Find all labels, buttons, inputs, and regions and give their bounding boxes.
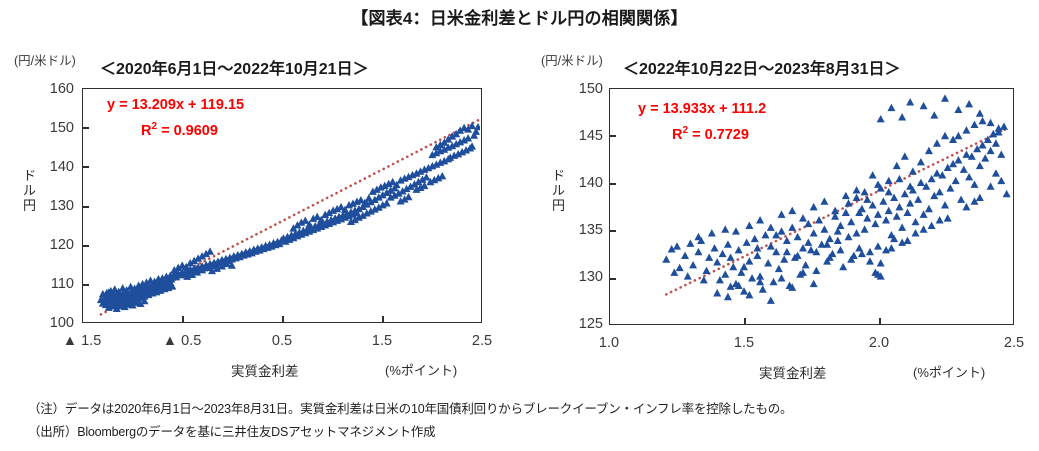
scatter-marker	[954, 132, 962, 139]
scatter-marker	[944, 214, 952, 221]
scatter-marker	[711, 244, 719, 251]
scatter-marker	[1003, 190, 1011, 197]
scatter-marker	[713, 289, 721, 296]
scatter-marker	[877, 115, 885, 122]
scatter-marker	[705, 253, 713, 260]
scatter-marker	[751, 235, 759, 242]
scatter-marker	[893, 162, 901, 169]
left-y-unit-label: (円/米ドル)	[14, 50, 76, 69]
scatter-marker	[778, 274, 786, 281]
scatter-marker	[901, 152, 909, 159]
scatter-marker	[962, 151, 970, 158]
scatter-marker	[898, 224, 906, 231]
scatter-marker	[912, 229, 920, 236]
scatter-marker	[893, 212, 901, 219]
scatter-marker	[992, 139, 1000, 146]
scatter-marker	[810, 203, 818, 210]
scatter-marker	[871, 220, 879, 227]
scatter-marker	[906, 182, 914, 189]
scatter-marker	[874, 210, 882, 217]
scatter-marker	[759, 285, 767, 292]
scatter-marker	[917, 158, 925, 165]
right-y-tick-130: 130	[561, 269, 603, 285]
scatter-marker	[933, 139, 941, 146]
scatter-marker	[970, 180, 978, 187]
scatter-marker	[909, 167, 917, 174]
scatter-marker	[767, 297, 775, 304]
scatter-marker	[941, 132, 949, 139]
left-y-tick-100: 100	[32, 315, 74, 331]
scatter-marker	[933, 169, 941, 176]
scatter-marker	[732, 227, 740, 234]
scatter-marker	[676, 264, 684, 271]
scatter-marker	[887, 244, 895, 251]
scatter-marker	[802, 261, 810, 268]
scatter-marker	[946, 184, 954, 191]
right-x-tick-1-5: 1.5	[704, 335, 784, 351]
scatter-marker	[903, 237, 911, 244]
scatter-marker	[694, 248, 702, 255]
scatter-marker	[882, 216, 890, 223]
scatter-marker	[700, 276, 708, 283]
scatter-marker	[997, 151, 1005, 158]
scatter-marker	[788, 224, 796, 231]
chart-panel-left: (円/米ドル) ＜2020年6月1日～2022年10月21日＞ ドル円 160 …	[0, 0, 520, 392]
scatter-marker	[970, 121, 978, 128]
scatter-marker	[769, 278, 777, 285]
scatter-marker	[930, 111, 938, 118]
left-x-tick-neg1-5: ▲ 1.5	[42, 333, 122, 349]
right-x-axis-title: 実質金利差	[759, 362, 827, 382]
scatter-marker	[895, 203, 903, 210]
scatter-marker	[906, 199, 914, 206]
scatter-marker	[727, 253, 735, 260]
right-y-unit-label: (円/米ドル)	[541, 50, 603, 69]
left-x-tick-1-5: 1.5	[342, 333, 422, 349]
scatter-marker	[438, 172, 446, 179]
scatter-marker	[729, 263, 737, 270]
scatter-marker	[719, 250, 727, 257]
scatter-marker	[914, 195, 922, 202]
left-y-tick-160: 160	[32, 81, 74, 97]
scatter-marker	[780, 255, 788, 262]
scatter-marker	[866, 257, 874, 264]
right-x-tick-2-0: 2.0	[839, 335, 919, 351]
scatter-marker	[885, 207, 893, 214]
scatter-marker	[869, 171, 877, 178]
scatter-marker	[845, 199, 853, 206]
left-xtick-0.5	[282, 316, 284, 323]
scatter-marker	[952, 177, 960, 184]
scatter-marker	[743, 239, 751, 246]
left-plot-canvas	[83, 89, 480, 321]
scatter-marker	[753, 252, 761, 259]
scatter-marker	[783, 237, 791, 244]
scatter-marker	[863, 195, 871, 202]
left-y-tick-140: 140	[32, 159, 74, 175]
scatter-marker	[874, 180, 882, 187]
left-y-tick-120: 120	[32, 237, 74, 253]
scatter-marker	[799, 214, 807, 221]
scatter-marker	[898, 113, 906, 120]
scatter-marker	[941, 94, 949, 101]
scatter-marker	[724, 240, 732, 247]
scatter-marker	[673, 242, 681, 249]
right-scatter-plot: y = 13.933x + 111.2 R2 = 0.7729	[609, 88, 1014, 325]
left-ytick-110	[82, 284, 89, 286]
footnote-source: （出所）Bloombergのデータを基に三井住友DSアセットマネジメント作成	[28, 421, 435, 440]
left-ytick-120	[82, 245, 89, 247]
right-ytick-145	[609, 135, 616, 137]
right-xtick-2	[879, 318, 881, 325]
figure-page: 【図表4：日米金利差とドル円の相関関係】 (円/米ドル) ＜2020年6月1日～…	[0, 0, 1039, 451]
scatter-marker	[839, 263, 847, 270]
scatter-marker	[662, 255, 670, 262]
scatter-marker	[756, 216, 764, 223]
scatter-marker	[887, 104, 895, 111]
left-x-axis-title: 実質金利差	[231, 360, 299, 380]
left-ytick-150	[82, 127, 89, 129]
scatter-marker	[962, 126, 970, 133]
right-x-tick-1-0: 1.0	[569, 335, 649, 351]
scatter-marker	[979, 117, 987, 124]
scatter-marker	[761, 231, 769, 238]
scatter-marker	[807, 246, 815, 253]
scatter-marker	[694, 233, 702, 240]
scatter-marker	[474, 123, 480, 130]
scatter-marker	[834, 237, 842, 244]
scatter-marker	[912, 218, 920, 225]
scatter-marker	[987, 147, 995, 154]
left-y-tick-130: 130	[32, 198, 74, 214]
scatter-marker	[997, 177, 1005, 184]
scatter-marker	[753, 244, 761, 251]
right-y-tick-125: 125	[561, 316, 603, 332]
scatter-marker	[724, 293, 732, 300]
scatter-marker	[721, 225, 729, 232]
scatter-marker	[987, 119, 995, 126]
right-xtick-1.5	[744, 318, 746, 325]
scatter-marker	[954, 106, 962, 113]
scatter-marker	[767, 242, 775, 249]
scatter-marker	[820, 197, 828, 204]
right-ytick-135	[609, 230, 616, 232]
right-ytick-130	[609, 278, 616, 280]
left-x-tick-0-5: 0.5	[242, 333, 322, 349]
scatter-marker	[965, 100, 973, 107]
scatter-marker	[861, 225, 869, 232]
left-ytick-140	[82, 166, 89, 168]
scatter-marker	[820, 225, 828, 232]
scatter-marker	[954, 156, 962, 163]
scatter-marker	[885, 188, 893, 195]
left-y-tick-150: 150	[32, 120, 74, 136]
scatter-marker	[778, 210, 786, 217]
scatter-marker	[764, 259, 772, 266]
left-xtick--0.5	[182, 316, 184, 323]
scatter-marker	[962, 203, 970, 210]
scatter-marker	[686, 239, 694, 246]
scatter-marker	[681, 252, 689, 259]
scatter-marker	[836, 246, 844, 253]
right-x-tick-2-5: 2.5	[974, 335, 1039, 351]
footnote-note: （注）データは2020年6月1日～2023年8月31日。実質金利差は日米の10年…	[28, 398, 792, 417]
scatter-marker	[906, 98, 914, 105]
scatter-marker	[810, 229, 818, 236]
scatter-marker	[960, 165, 968, 172]
scatter-marker	[866, 248, 874, 255]
scatter-marker	[895, 175, 903, 182]
scatter-marker	[976, 162, 984, 169]
scatter-marker	[976, 109, 984, 116]
left-chart-subtitle: ＜2020年6月1日～2022年10月21日＞	[100, 55, 369, 79]
scatter-marker	[847, 218, 855, 225]
scatter-marker	[708, 229, 716, 236]
left-x-unit-label: (%ポイント)	[385, 360, 457, 379]
scatter-marker	[936, 216, 944, 223]
scatter-marker	[941, 201, 949, 208]
scatter-marker	[928, 222, 936, 229]
scatter-marker	[861, 188, 869, 195]
scatter-marker	[992, 169, 1000, 176]
scatter-marker	[778, 227, 786, 234]
scatter-marker	[853, 194, 861, 201]
scatter-marker	[987, 182, 995, 189]
scatter-marker	[976, 194, 984, 201]
scatter-marker	[748, 274, 756, 281]
right-x-unit-label: (%ポイント)	[913, 362, 985, 381]
scatter-marker	[957, 195, 965, 202]
scatter-marker	[853, 229, 861, 236]
scatter-marker	[788, 207, 796, 214]
scatter-marker	[936, 188, 944, 195]
scatter-marker	[767, 224, 775, 231]
scatter-marker	[1000, 122, 1008, 129]
scatter-marker	[903, 209, 911, 216]
scatter-marker	[917, 179, 925, 186]
right-y-tick-135: 135	[561, 222, 603, 238]
scatter-marker	[721, 270, 729, 277]
scatter-marker	[920, 102, 928, 109]
left-scatter-plot: y = 13.209x + 119.15 R2 = 0.9609	[82, 88, 482, 323]
chart-panel-right: (円/米ドル) ＜2022年10月22日～2023年8月31日＞ ドル円 150…	[519, 0, 1039, 392]
left-ytick-130	[82, 206, 89, 208]
right-plot-canvas	[610, 89, 1012, 323]
scatter-marker	[810, 280, 818, 287]
right-y-tick-140: 140	[561, 175, 603, 191]
scatter-marker	[901, 190, 909, 197]
scatter-marker	[925, 147, 933, 154]
scatter-marker	[812, 267, 820, 274]
scatter-marker	[920, 225, 928, 232]
scatter-marker	[745, 257, 753, 264]
right-ytick-140	[609, 183, 616, 185]
scatter-marker	[965, 173, 973, 180]
scatter-marker	[702, 267, 710, 274]
scatter-marker	[981, 154, 989, 161]
scatter-marker	[684, 272, 692, 279]
left-xtick-1.5	[382, 316, 384, 323]
left-x-tick-2-5: 2.5	[442, 333, 522, 349]
left-x-tick-neg0-5: ▲ 0.5	[142, 333, 222, 349]
scatter-marker	[804, 239, 812, 246]
scatter-marker	[877, 259, 885, 266]
scatter-marker	[689, 261, 697, 268]
scatter-marker	[815, 216, 823, 223]
scatter-marker	[842, 192, 850, 199]
scatter-marker	[853, 186, 861, 193]
scatter-marker	[925, 205, 933, 212]
right-chart-subtitle: ＜2022年10月22日～2023年8月31日＞	[623, 55, 900, 79]
scatter-marker	[885, 177, 893, 184]
scatter-marker	[783, 248, 791, 255]
scatter-marker	[879, 197, 887, 204]
scatter-marker	[794, 233, 802, 240]
left-y-tick-110: 110	[32, 276, 74, 292]
scatter-marker	[775, 265, 783, 272]
scatter-marker	[863, 214, 871, 221]
right-y-tick-150: 150	[561, 81, 603, 97]
right-y-tick-145: 145	[561, 128, 603, 144]
scatter-marker	[874, 242, 882, 249]
scatter-marker	[845, 233, 853, 240]
scatter-marker	[206, 247, 214, 254]
scatter-marker	[735, 246, 743, 253]
scatter-marker	[713, 258, 721, 265]
scatter-marker	[745, 222, 753, 229]
